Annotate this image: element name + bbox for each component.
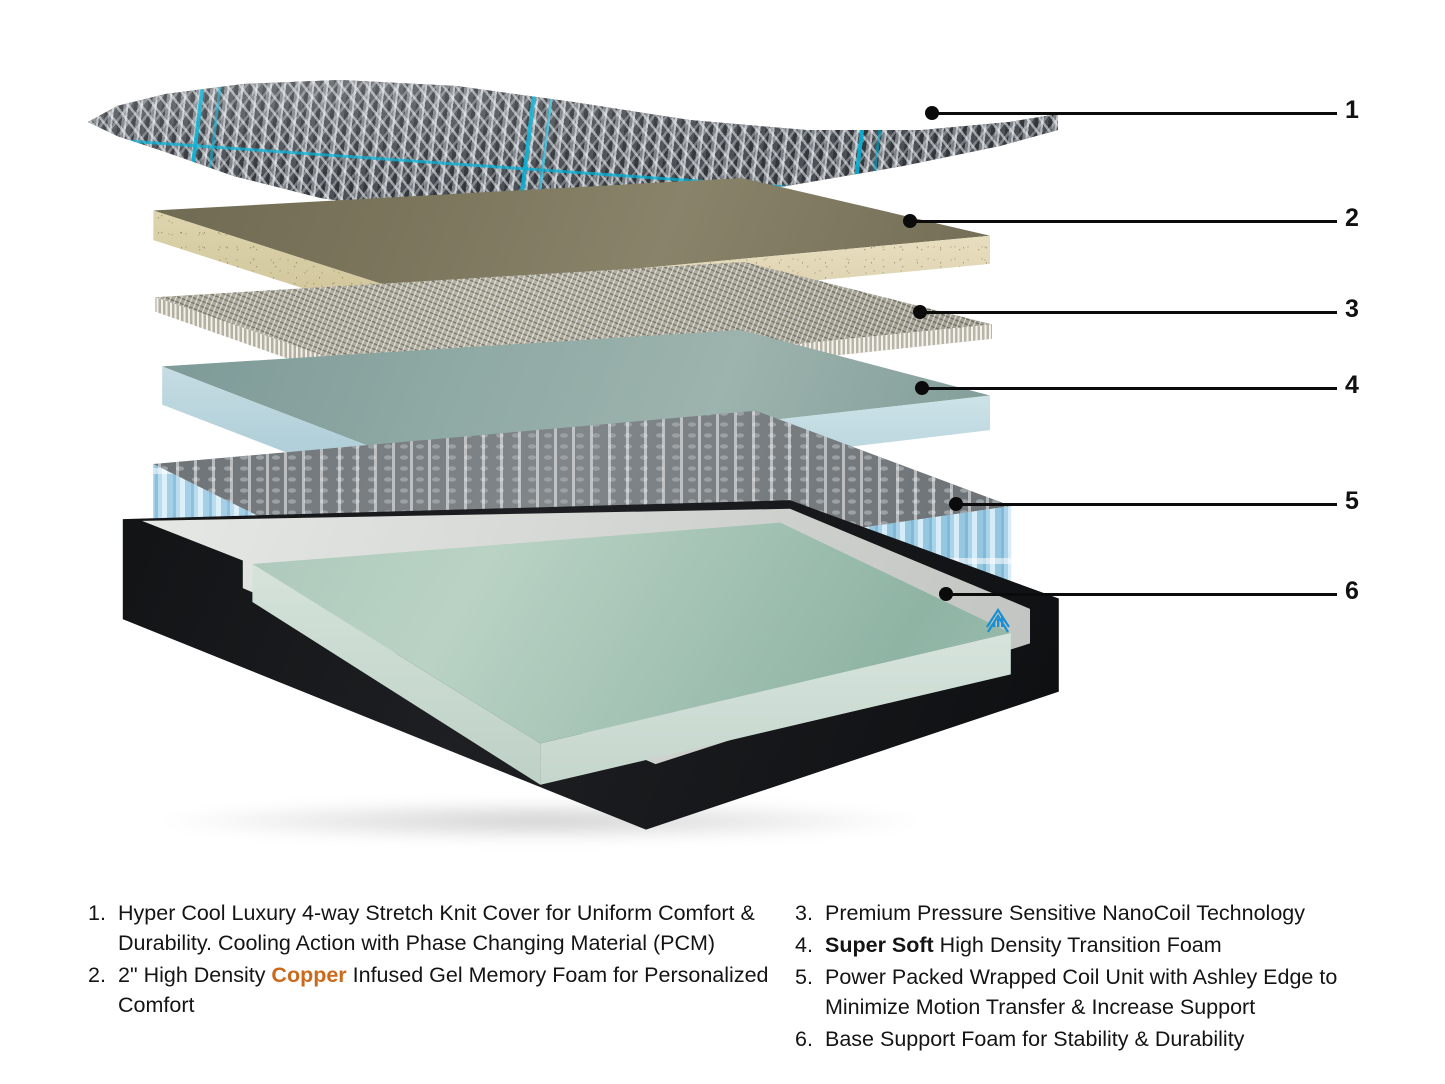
legend-item-text: Super Soft High Density Transition Foam <box>825 930 1395 960</box>
brand-logo-icon <box>985 608 1011 638</box>
legend-item-index: 6. <box>795 1024 825 1054</box>
legend-column-left: 1.Hyper Cool Luxury 4-way Stretch Knit C… <box>88 898 788 1022</box>
legend-item-index: 2. <box>88 960 118 1020</box>
legend-item-text: 2" High Density Copper Infused Gel Memor… <box>118 960 788 1020</box>
layer-base-support-foam <box>118 495 1078 840</box>
legend-item: 5.Power Packed Wrapped Coil Unit with As… <box>795 962 1395 1022</box>
legend-text-run: Premium Pressure Sensitive NanoCoil Tech… <box>825 901 1305 925</box>
legend-text-run: High Density Transition Foam <box>934 933 1222 957</box>
callout-number: 5 <box>1345 487 1359 516</box>
legend-item: 1.Hyper Cool Luxury 4-way Stretch Knit C… <box>88 898 788 958</box>
callout-number: 4 <box>1345 371 1359 400</box>
legend-item: 6.Base Support Foam for Stability & Dura… <box>795 1024 1395 1054</box>
legend: 1.Hyper Cool Luxury 4-way Stretch Knit C… <box>0 898 1445 1078</box>
mattress-exploded-diagram: 1 2 3 4 5 6 1.Hyper Cool Luxury 4-way St… <box>0 0 1445 1084</box>
highlight-bold: Super Soft <box>825 933 934 957</box>
callout-leader-line <box>946 593 1337 596</box>
legend-text-run: 2" High Density <box>118 963 271 987</box>
legend-item-text: Power Packed Wrapped Coil Unit with Ashl… <box>825 962 1395 1022</box>
callout-number: 3 <box>1345 295 1359 324</box>
legend-item-index: 3. <box>795 898 825 928</box>
legend-item: 2.2" High Density Copper Infused Gel Mem… <box>88 960 788 1020</box>
legend-text-run: Power Packed Wrapped Coil Unit with Ashl… <box>825 965 1337 1019</box>
callout-number: 1 <box>1345 96 1359 125</box>
legend-item: 3.Premium Pressure Sensitive NanoCoil Te… <box>795 898 1395 928</box>
callout-leader-line <box>932 112 1337 115</box>
legend-item: 4.Super Soft High Density Transition Foa… <box>795 930 1395 960</box>
callout-number: 2 <box>1345 204 1359 233</box>
legend-item-text: Premium Pressure Sensitive NanoCoil Tech… <box>825 898 1395 928</box>
callout-number: 6 <box>1345 577 1359 606</box>
callout-leader-line <box>920 311 1337 314</box>
callout-leader-line <box>910 220 1337 223</box>
legend-item-index: 4. <box>795 930 825 960</box>
legend-item-index: 5. <box>795 962 825 1022</box>
legend-item-index: 1. <box>88 898 118 958</box>
legend-text-run: Base Support Foam for Stability & Durabi… <box>825 1027 1244 1051</box>
callout-leader-line <box>922 387 1337 390</box>
highlight-copper: Copper <box>271 963 346 987</box>
callout-leader-line <box>956 503 1337 506</box>
legend-item-text: Base Support Foam for Stability & Durabi… <box>825 1024 1395 1054</box>
legend-text-run: Hyper Cool Luxury 4-way Stretch Knit Cov… <box>118 901 755 955</box>
legend-item-text: Hyper Cool Luxury 4-way Stretch Knit Cov… <box>118 898 788 958</box>
legend-column-right: 3.Premium Pressure Sensitive NanoCoil Te… <box>795 898 1395 1056</box>
